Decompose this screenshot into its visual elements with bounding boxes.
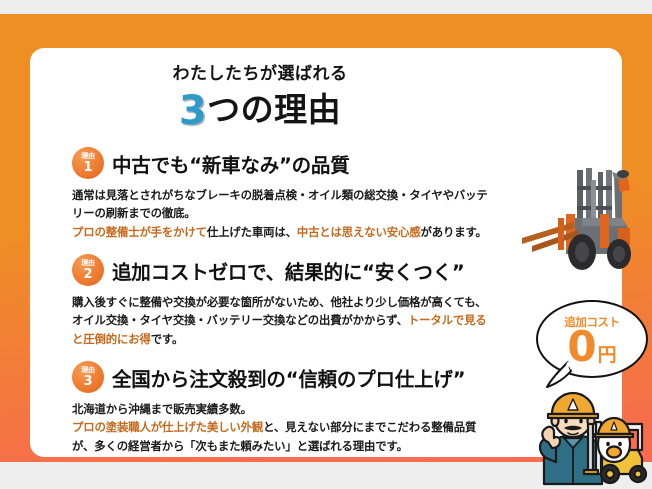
reason-1-body: 通常は見落とされがちなブレーキの脱着点検・オイル類の総交換・タイヤやバッテリーの… [72,186,492,241]
reason-3-badge-label: 理由 [81,367,94,374]
reason-2-title: 追加コストゼロで、結果的に“安くつく” [112,256,465,285]
page-title: わたしたちが選ばれる 3つの理由 [30,64,490,134]
title-number: 3 [179,88,207,134]
reason-3-body: 北海道から沖縄まで販売実績多数。プロの塗装職人が仕上げた美しい外観と、見えない部… [72,400,492,455]
title-eyebrow: わたしたちが選ばれる [30,64,490,85]
reason-1-highlight-2: 中古とは思えない安心感 [297,225,421,239]
reason-2-badge-label: 理由 [81,260,94,267]
cost-speech-bubble: 追加コスト 0 円 [530,300,652,400]
page-root: わたしたちが選ばれる 3つの理由 理由 1 中古でも“新車なみ”の品質 通常は見… [0,0,652,489]
reason-1-badge: 理由 1 [72,147,104,179]
title-rest: つの理由 [207,90,341,129]
reason-1-mid: 仕上げた車両は、 [207,225,297,239]
bubble-amount: 0 円 [567,326,616,368]
reason-2-body: 購入後すぐに整備や交換が必要な箇所がないため、他社より少し価格が高くても、オイル… [72,293,492,348]
reason-1-tail: があります。 [420,225,486,239]
reason-1-badge-label: 理由 [81,153,94,160]
reason-block-2: 理由 2 追加コストゼロで、結果的に“安くつく” 購入後すぐに整備や交換が必要な… [72,252,492,348]
reason-1-title: 中古でも“新車なみ”の品質 [112,149,350,178]
reason-3-highlight: プロの塗装職人が仕上げた美しい外観 [72,420,263,434]
bubble-amount-value: 0 [567,326,596,368]
white-card: わたしたちが選ばれる 3つの理由 理由 1 中古でも“新車なみ”の品質 通常は見… [30,48,622,457]
speech-bubble-content: 追加コスト 0 円 [536,300,648,378]
reason-block-1: 理由 1 中古でも“新車なみ”の品質 通常は見落とされがちなブレーキの脱着点検・… [72,145,492,241]
reason-1-line1: 通常は見落とされがちなブレーキの脱着点検・オイル類の総交換・タイヤやバッテリーの… [72,188,488,220]
reason-block-3: 理由 3 全国から注文殺到の“信頼のプロ仕上げ” 北海道から沖縄まで販売実績多数… [72,359,492,455]
reason-3-head: 理由 3 全国から注文殺到の“信頼のプロ仕上げ” [72,359,492,395]
reason-3-badge: 理由 3 [72,361,104,393]
reason-1-badge-number: 1 [83,161,92,174]
reason-2-badge: 理由 2 [72,254,104,286]
reason-3-plain: 北海道から沖縄まで販売実績多数。 [72,402,252,416]
reason-2-tail: です。 [151,332,184,346]
forklift-photo [522,156,652,278]
orange-frame: わたしたちが選ばれる 3つの理由 理由 1 中古でも“新車なみ”の品質 通常は見… [0,14,652,462]
reason-3-title: 全国から注文殺到の“信頼のプロ仕上げ” [112,363,465,392]
reason-3-badge-number: 3 [83,375,92,388]
reason-2-badge-number: 2 [83,268,92,281]
reason-1-highlight-1: プロの整備士が手をかけて [72,225,207,239]
reason-1-head: 理由 1 中古でも“新車なみ”の品質 [72,145,492,181]
title-main: 3つの理由 [30,88,490,134]
worker-illustration [526,388,652,486]
bubble-amount-unit: 円 [598,346,617,365]
reason-2-head: 理由 2 追加コストゼロで、結果的に“安くつく” [72,252,492,288]
